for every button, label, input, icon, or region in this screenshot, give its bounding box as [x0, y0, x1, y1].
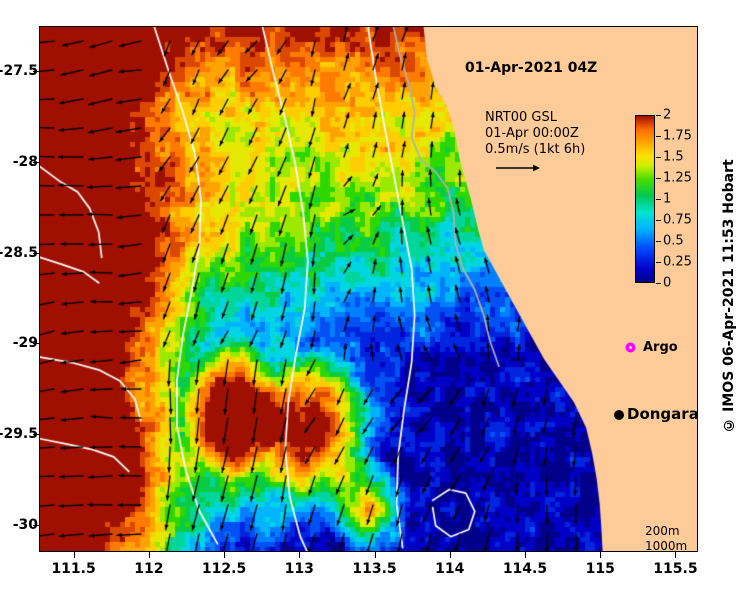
colorbar-tick-label: 1.25 [663, 171, 692, 186]
x-axis-tick-label: 113.5 [352, 561, 396, 577]
argo-label: Argo [643, 340, 678, 355]
y-axis-tick-label: -29 [13, 335, 38, 351]
x-axis-tick-label: 115.5 [653, 561, 697, 577]
colorbar-tick [656, 136, 661, 137]
colorbar-tick-label: 1.75 [663, 129, 692, 144]
x-axis-tick [224, 552, 225, 558]
y-axis-tick-label: -28 [13, 154, 38, 170]
copyright-credit: © IMOS 06-Apr-2021 11:53 Hobart [721, 159, 737, 432]
y-axis-tick-label: -29.5 [0, 426, 38, 442]
vector-scale-label: 0.5m/s (1kt 6h) [485, 142, 585, 158]
dongara-label: Dongara [627, 405, 698, 423]
colorbar-gradient [635, 115, 655, 283]
colorbar-tick [656, 241, 661, 242]
x-axis-tick-label: 114 [435, 561, 464, 577]
x-axis-tick-label: 114.5 [503, 561, 547, 577]
sst-age-map-figure: 01-Apr-2021 04Z NRT00 GSL 01-Apr 00:00Z … [0, 0, 739, 592]
colorbar-tick [656, 178, 661, 179]
colorbar-tick [656, 157, 661, 158]
depth-shallow-label: 200m [645, 524, 697, 539]
x-axis-tick [600, 552, 601, 558]
colorbar-tick-label: 0.75 [663, 213, 692, 228]
x-axis-tick [525, 552, 526, 558]
colorbar-tick [656, 220, 661, 221]
y-axis-tick-label: -27.5 [0, 63, 38, 79]
x-axis-tick-label: 111.5 [51, 561, 95, 577]
colorbar-tick [656, 283, 661, 284]
x-axis-tick [675, 552, 676, 558]
argo-float-icon [625, 342, 636, 353]
bathymetry-depth-key: 200m 1000m [645, 524, 697, 552]
x-axis-tick [375, 552, 376, 558]
colorbar-tick-label: 0.5 [663, 234, 684, 249]
colorbar-tick-label: 1 [663, 192, 671, 207]
vector-source-label: NRT00 GSL [485, 110, 585, 126]
colorbar-tick [656, 199, 661, 200]
vector-time-label: 01-Apr 00:00Z [485, 126, 585, 142]
city-dot-icon [614, 410, 624, 420]
y-axis-tick-label: -28.5 [0, 245, 38, 261]
x-axis-tick-label: 112.5 [202, 561, 246, 577]
colorbar: Age (days) of filled SST (wrt latest) 00… [635, 85, 698, 265]
colorbar-tick-label: 0.25 [663, 255, 692, 270]
colorbar-tick-label: 0 [663, 276, 671, 291]
right-arrow-icon [495, 162, 541, 174]
colorbar-tick [656, 115, 661, 116]
x-axis-tick [74, 552, 75, 558]
x-axis-tick [149, 552, 150, 558]
colorbar-tick-label: 1.5 [663, 150, 684, 165]
x-axis-tick [299, 552, 300, 558]
colorbar-tick [656, 262, 661, 263]
colorbar-tick-label: 2 [663, 108, 671, 123]
y-axis-tick-label: -30 [13, 517, 38, 533]
x-axis-tick-label: 113 [285, 561, 314, 577]
map-plot-area[interactable]: 01-Apr-2021 04Z NRT00 GSL 01-Apr 00:00Z … [39, 26, 698, 552]
depth-deep-label: 1000m [645, 539, 697, 552]
vector-reference-annotation: NRT00 GSL 01-Apr 00:00Z 0.5m/s (1kt 6h) [485, 110, 585, 158]
land-mask-coastline [40, 27, 698, 552]
x-axis-tick-label: 112 [134, 561, 163, 577]
x-axis-tick [450, 552, 451, 558]
plot-title: 01-Apr-2021 04Z [465, 60, 597, 76]
x-axis-tick-label: 115 [586, 561, 615, 577]
